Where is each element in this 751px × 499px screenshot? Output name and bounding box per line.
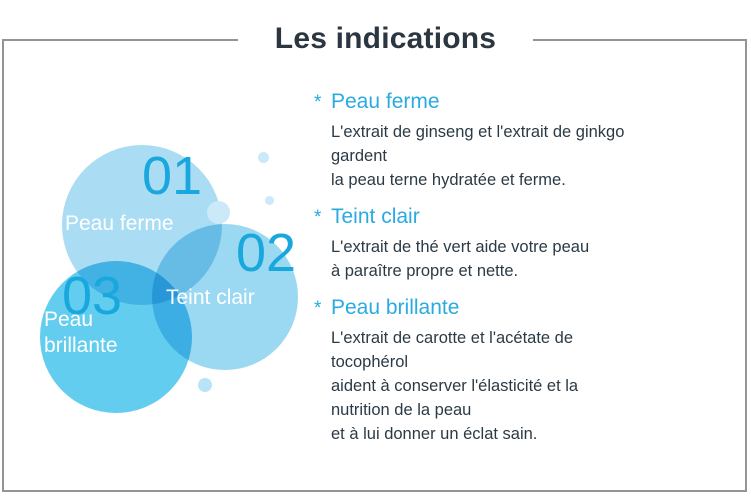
indication-item: * Peau ferme L'extrait de ginseng et l'e…: [314, 87, 734, 192]
indication-title: Teint clair: [331, 202, 420, 232]
indication-title: Peau brillante: [331, 293, 459, 323]
indications-list: * Peau ferme L'extrait de ginseng et l'e…: [314, 87, 734, 456]
indication-heading: * Peau brillante: [314, 293, 734, 324]
asterisk-icon: *: [314, 294, 331, 324]
bubble-label-peau-ferme: Peau ferme: [65, 211, 174, 237]
asterisk-icon: *: [314, 203, 331, 233]
indication-body: L'extrait de ginseng et l'extrait de gin…: [331, 120, 734, 192]
indication-title: Peau ferme: [331, 87, 440, 117]
indication-heading: * Teint clair: [314, 202, 734, 233]
decorative-dot-large: [207, 201, 230, 224]
bubble-number-01: 01: [142, 149, 202, 203]
decorative-dot-small-top: [258, 152, 269, 163]
bubble-label-teint-clair: Teint clair: [166, 285, 255, 311]
indication-body: L'extrait de carotte et l'acétate de toc…: [331, 326, 734, 446]
bubble-diagram: 01 02 03 Peau ferme Teint clair Peau bri…: [4, 41, 334, 494]
decorative-dot-small-bottom: [198, 378, 212, 392]
asterisk-icon: *: [314, 88, 331, 118]
bubble-number-02: 02: [236, 226, 296, 280]
indication-item: * Teint clair L'extrait de thé vert aide…: [314, 202, 734, 283]
indication-item: * Peau brillante L'extrait de carotte et…: [314, 293, 734, 446]
indication-heading: * Peau ferme: [314, 87, 734, 118]
bubble-label-peau-brillante: Peau brillante: [44, 307, 118, 359]
content-panel: 01 02 03 Peau ferme Teint clair Peau bri…: [2, 39, 747, 492]
page-title: Les indications: [238, 18, 533, 60]
indication-body: L'extrait de thé vert aide votre peau à …: [331, 235, 734, 283]
decorative-dot-small-right: [265, 196, 274, 205]
